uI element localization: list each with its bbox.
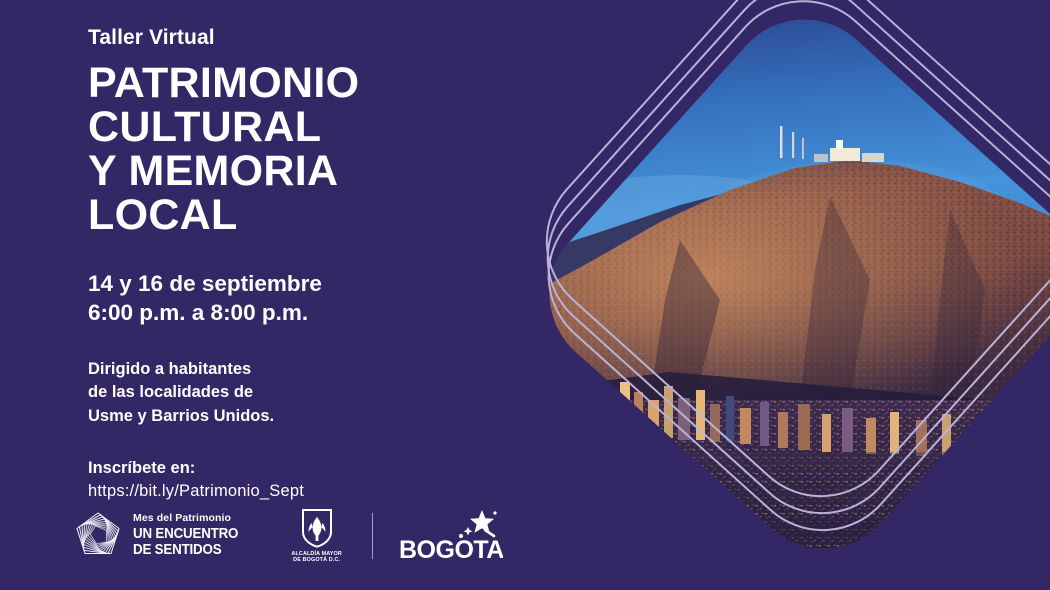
poster-canvas: Taller Virtual PATRIMONIO CULTURAL Y MEM… — [0, 0, 1050, 590]
page-title: PATRIMONIO CULTURAL Y MEMORIA LOCAL — [88, 62, 518, 237]
eyebrow-label: Taller Virtual — [88, 26, 518, 49]
event-dates: 14 y 16 de septiembre — [88, 269, 518, 298]
logo-mes-del-patrimonio: Mes del Patrimonio UN ENCUENTRO DE SENTI… — [72, 510, 247, 562]
audience-line-3: Usme y Barrios Unidos. — [88, 405, 518, 428]
headline-line-1: PATRIMONIO — [88, 62, 518, 106]
headline-line-4: LOCAL — [88, 194, 518, 238]
headline-line-3: Y MEMORIA — [88, 150, 518, 194]
event-times: 6:00 p.m. a 8:00 p.m. — [88, 298, 518, 327]
alcaldia-wordmark: ALCALDÍA MAYOR DE BOGOTÁ D.C. — [291, 551, 342, 565]
heritage-line-1: Mes del Patrimonio — [133, 513, 247, 525]
photo-svg — [530, 0, 1050, 590]
text-column: Taller Virtual PATRIMONIO CULTURAL Y MEM… — [88, 26, 518, 503]
bogota-shield-crest-icon — [300, 508, 334, 548]
audience-line-2: de las localidades de — [88, 381, 518, 404]
photo-image — [530, 0, 1050, 590]
pentagon-spiral-icon — [72, 510, 124, 562]
alcaldia-line-2: DE BOGOTÁ D.C. — [291, 557, 342, 564]
logo-row: Mes del Patrimonio UN ENCUENTRO DE SENTI… — [72, 508, 503, 565]
logo-divider — [372, 513, 374, 559]
signup-label: Inscríbete en: — [88, 457, 518, 480]
logo-bogota: BOGOTA — [399, 508, 503, 564]
signup-url-link[interactable]: https://bit.ly/Patrimonio_Sept — [88, 480, 518, 503]
headline-line-2: CULTURAL — [88, 106, 518, 150]
logo-alcaldia-mayor: ALCALDÍA MAYOR DE BOGOTÁ D.C. — [291, 508, 342, 565]
heritage-wordmark: Mes del Patrimonio UN ENCUENTRO DE SENTI… — [133, 513, 247, 558]
schedule-block: 14 y 16 de septiembre 6:00 p.m. a 8:00 p… — [88, 269, 518, 328]
heritage-line-2: UN ENCUENTRO — [133, 527, 238, 543]
photo-composition — [530, 0, 1050, 590]
heritage-line-3: DE SENTIDOS — [133, 543, 238, 559]
audience-line-1: Dirigido a habitantes — [88, 358, 518, 381]
audience-block: Dirigido a habitantes de las localidades… — [88, 358, 518, 428]
signup-block: Inscríbete en: https://bit.ly/Patrimonio… — [88, 457, 518, 503]
bogota-wordmark-text: BOGOTA — [399, 536, 503, 564]
